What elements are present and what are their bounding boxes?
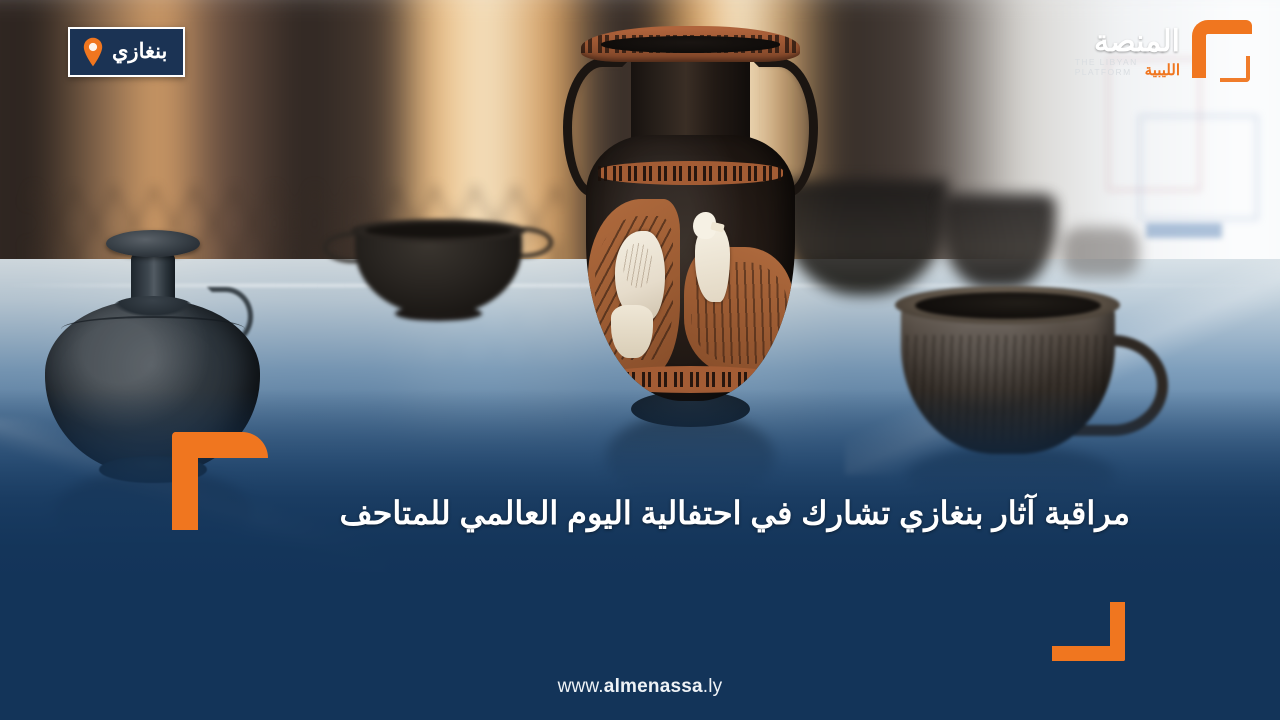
location-badge: بنغازي [68, 27, 185, 77]
female-figure-neck [611, 305, 653, 358]
brand-arabic-name: المنصة [1094, 28, 1180, 57]
brand-english-line-1: THE LIBYAN [1075, 57, 1138, 68]
url-main: almenassa [604, 676, 703, 697]
brand-english-line-2: PLATFORM [1075, 67, 1138, 78]
headline-text: مراقبة آثار بنغازي تشارك في احتفالية الي… [250, 488, 1130, 540]
url-suffix: .ly [703, 676, 723, 697]
website-url[interactable]: www.almenassa.ly [0, 676, 1280, 698]
brand-text-block: المنصة THE LIBYAN PLATFORM الليبية [1075, 16, 1180, 78]
kylix-bowl-artifact [339, 209, 537, 324]
corner-bracket-right-icon [1052, 602, 1125, 661]
blurred-poster [1139, 115, 1258, 220]
brand-english-name: THE LIBYAN PLATFORM [1075, 57, 1138, 78]
flask-neck [131, 250, 176, 314]
url-prefix: www. [558, 676, 604, 697]
brand-logo: المنصة THE LIBYAN PLATFORM الليبية [1075, 16, 1258, 88]
cup-interior [915, 292, 1101, 319]
news-card: بنغازي المنصة THE LIBYAN PLATFORM الليبي… [0, 0, 1280, 720]
red-figure-amphora-artifact [566, 26, 816, 429]
flask-shoulder-line [61, 316, 245, 342]
blurred-label [1146, 223, 1223, 237]
brand-secondary-row: THE LIBYAN PLATFORM الليبية [1075, 57, 1180, 78]
brand-mark-icon [1186, 16, 1258, 88]
amphora-mouth-opening [601, 36, 781, 52]
flask-lip [106, 230, 200, 257]
blurred-vessel [1062, 227, 1139, 277]
amphora-body [586, 135, 796, 401]
meander-band-top [598, 161, 782, 185]
map-pin-icon [82, 37, 104, 67]
brand-bracket-small-icon [1220, 56, 1250, 82]
location-badge-label: بنغازي [112, 41, 167, 64]
brand-arabic-subtitle: الليبية [1145, 63, 1180, 78]
